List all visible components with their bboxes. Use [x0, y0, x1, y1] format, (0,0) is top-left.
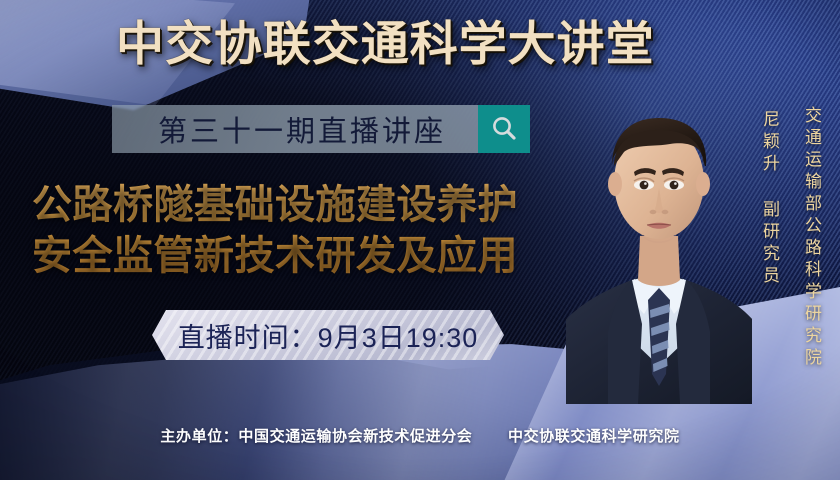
footer-organizer: 主办单位：中国交通运输协会新技术促进分会 [160, 428, 472, 445]
search-icon [489, 114, 519, 144]
live-stream-poster: 交通运输部公路科学研究院 尼颖升 副研究员 中交协联交通科学大讲堂 第三十一期直… [0, 0, 840, 480]
footer-institute: 中交协联交通科学研究院 [508, 428, 680, 445]
speaker-name-title: 尼颖升 副研究员 [757, 110, 782, 288]
schedule-badge: 直播时间：9月3日19:30 [152, 310, 504, 360]
footer: 主办单位：中国交通运输协会新技术促进分会 中交协联交通科学研究院 [0, 425, 840, 446]
series-search-bar[interactable]: 第三十一期直播讲座 [112, 105, 530, 153]
speaker-portrait [566, 74, 752, 404]
page-title: 中交协联交通科学大讲堂 [116, 14, 728, 74]
topic-title: 公路桥隧基础设施建设养护 安全监管新技术研发及应用 [32, 180, 592, 282]
series-label: 第三十一期直播讲座 [112, 108, 478, 150]
schedule-text: 直播时间：9月3日19:30 [178, 316, 479, 355]
search-button[interactable] [478, 105, 530, 153]
speaker-organization: 交通运输部公路科学研究院 [799, 106, 824, 370]
